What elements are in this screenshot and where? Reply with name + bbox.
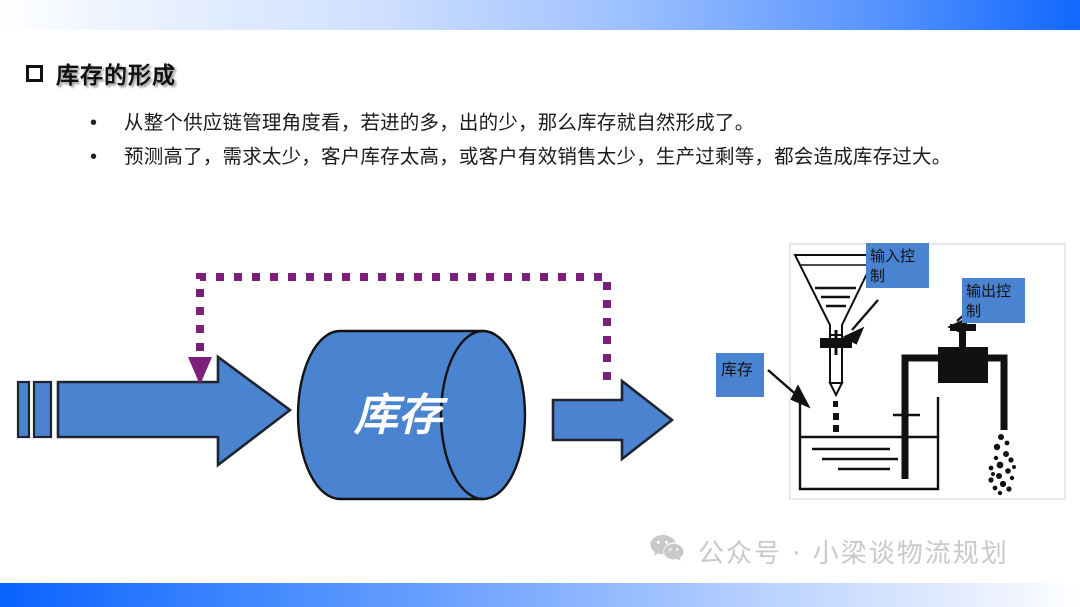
bullet-text: 从整个供应链管理角度看，若进的多，出的少，那么库存就自然形成了。 <box>124 108 754 138</box>
label-output-control-line2: 制 <box>966 302 981 320</box>
label-output-control-line1: 输出控 <box>966 282 1011 300</box>
hollow-square-bullet-icon <box>26 65 43 82</box>
bullet-marker: • <box>90 108 124 138</box>
top-gradient-band <box>0 0 1080 30</box>
label-inventory: 库存 <box>716 353 764 397</box>
watermark: 公众号 · 小梁谈物流规划 <box>650 533 1009 570</box>
valve-icon <box>893 324 1004 479</box>
inflow-arrow-icon <box>58 357 290 465</box>
cylinder-label: 库存 <box>353 390 448 441</box>
tank-icon <box>800 397 938 489</box>
label-input-control-line2: 制 <box>870 267 885 285</box>
granules-icon <box>988 434 1016 495</box>
label-output-control: 输出控 制 <box>962 278 1025 323</box>
bullet-marker: • <box>90 142 124 172</box>
label-input-control-line1: 输入控 <box>870 247 915 265</box>
wechat-icon <box>650 534 684 569</box>
list-item: • 从整个供应链管理角度看，若进的多，出的少，那么库存就自然形成了。 <box>90 108 1010 138</box>
list-item: • 预测高了，需求太少，客户库存太高，或客户有效销售太少，生产过剩等，都会造成库… <box>90 142 1010 172</box>
page-title-row: 库存的形成 <box>26 56 176 90</box>
drip-icon <box>833 401 839 432</box>
bottom-gradient-band <box>0 583 1080 607</box>
bullet-text: 预测高了，需求太少，客户库存太高，或客户有效销售太少，生产过剩等，都会造成库存过… <box>124 142 951 172</box>
outflow-arrow-icon <box>553 381 672 459</box>
bullet-list: • 从整个供应链管理角度看，若进的多，出的少，那么库存就自然形成了。 • 预测高… <box>90 108 1010 176</box>
watermark-text: 公众号 · 小梁谈物流规划 <box>698 533 1009 570</box>
pipe-segment-bars-icon <box>18 382 51 437</box>
label-inventory-text: 库存 <box>721 360 753 379</box>
diagram-area: 库存 <box>0 225 1080 525</box>
label-input-control: 输入控 制 <box>866 243 929 288</box>
page-title: 库存的形成 <box>56 56 176 90</box>
funnel-icon <box>795 255 876 395</box>
